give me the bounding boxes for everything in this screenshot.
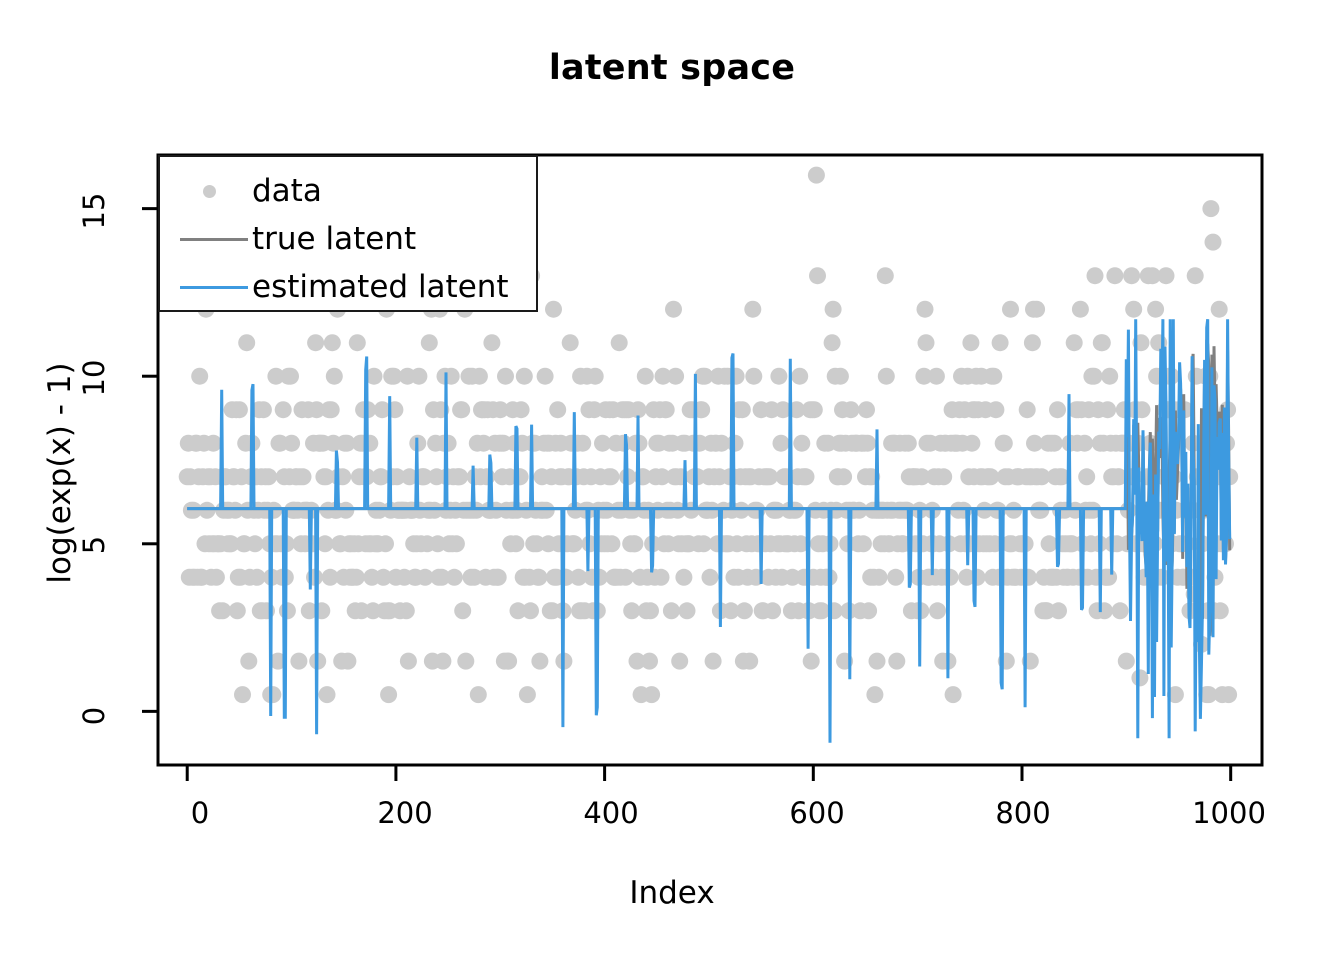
x-tick-800: 800 bbox=[995, 796, 1050, 830]
y-axis-label: log(exp(x) - 1) bbox=[42, 153, 78, 793]
legend: data true latent estimated latent bbox=[158, 155, 538, 312]
true-latent-line-icon bbox=[180, 238, 248, 241]
true-latent-line bbox=[187, 340, 1230, 636]
y-tick-10: 10 bbox=[77, 348, 111, 408]
legend-item-data: data bbox=[160, 167, 536, 215]
y-tick-5: 5 bbox=[77, 515, 111, 575]
data-dot-icon bbox=[203, 185, 216, 198]
x-tick-1000: 1000 bbox=[1192, 796, 1266, 830]
legend-item-true-latent: true latent bbox=[160, 215, 536, 263]
x-axis-label: Index bbox=[0, 875, 1344, 911]
estimated-latent-line-icon bbox=[180, 286, 248, 289]
legend-label-true-latent: true latent bbox=[252, 221, 416, 257]
legend-key-true-latent bbox=[172, 215, 250, 263]
legend-key-data bbox=[172, 167, 250, 215]
legend-key-estimated-latent bbox=[172, 263, 250, 311]
legend-item-estimated-latent: estimated latent bbox=[160, 263, 536, 311]
y-tick-15: 15 bbox=[77, 181, 111, 241]
legend-label-data: data bbox=[252, 173, 322, 209]
x-tick-200: 200 bbox=[377, 796, 432, 830]
x-tick-400: 400 bbox=[583, 796, 638, 830]
y-tick-0: 0 bbox=[77, 686, 111, 746]
legend-label-estimated-latent: estimated latent bbox=[252, 269, 509, 305]
plot-figure: latent space 15 10 5 0 0 200 400 600 800… bbox=[0, 0, 1344, 960]
x-tick-0: 0 bbox=[191, 796, 209, 830]
x-tick-600: 600 bbox=[789, 796, 844, 830]
